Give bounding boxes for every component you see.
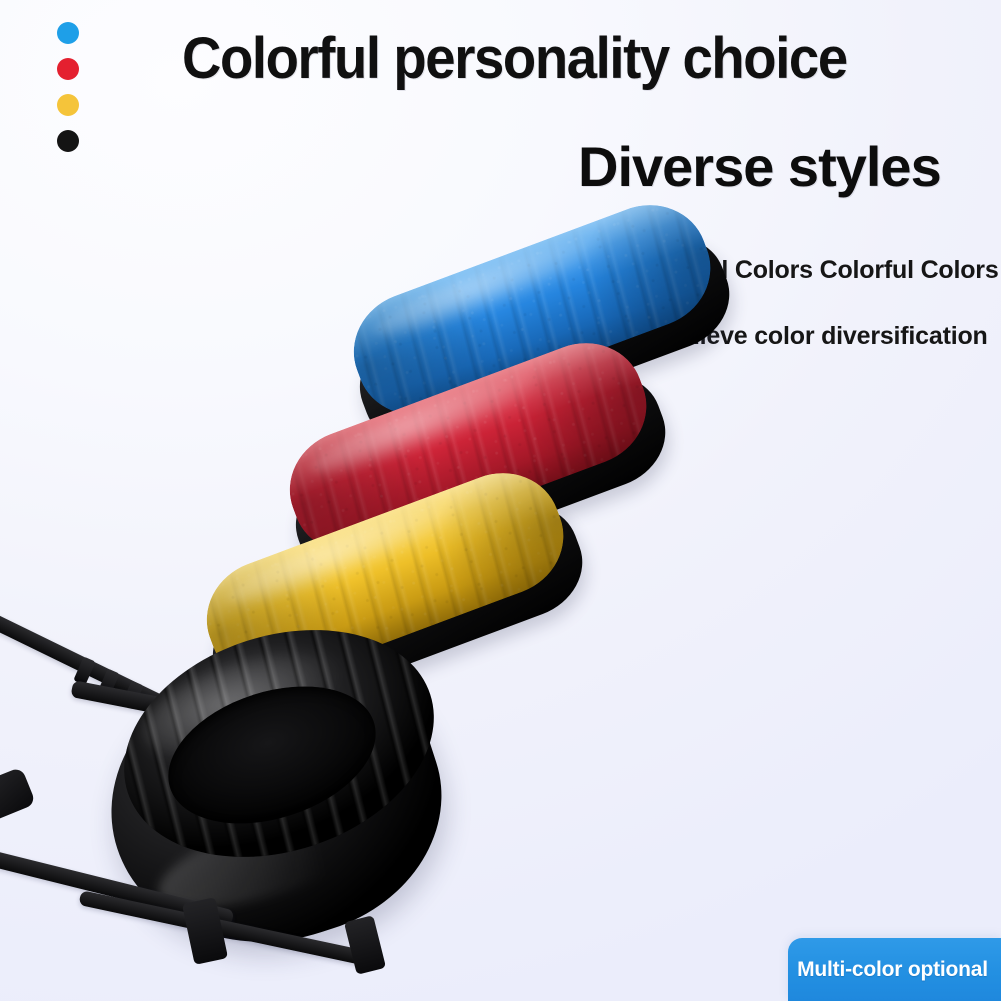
multi-color-optional-badge[interactable]: Multi-color optional bbox=[788, 938, 1001, 1001]
secondary-headline: Diverse styles bbox=[578, 139, 941, 195]
earcup-mount-tab-secondary bbox=[344, 915, 386, 975]
badge-label: Multi-color optional bbox=[797, 958, 992, 982]
primary-headline: Colorful personality choice bbox=[182, 30, 847, 88]
yellow-dot bbox=[57, 94, 79, 116]
black-headphone bbox=[0, 600, 520, 1001]
color-swatch-list bbox=[57, 22, 85, 166]
blue-dot bbox=[57, 22, 79, 44]
headband-slider-clip bbox=[0, 767, 36, 838]
black-dot bbox=[57, 130, 79, 152]
product-banner: Colorful personality choice Diverse styl… bbox=[0, 0, 1001, 1001]
red-dot bbox=[57, 58, 79, 80]
